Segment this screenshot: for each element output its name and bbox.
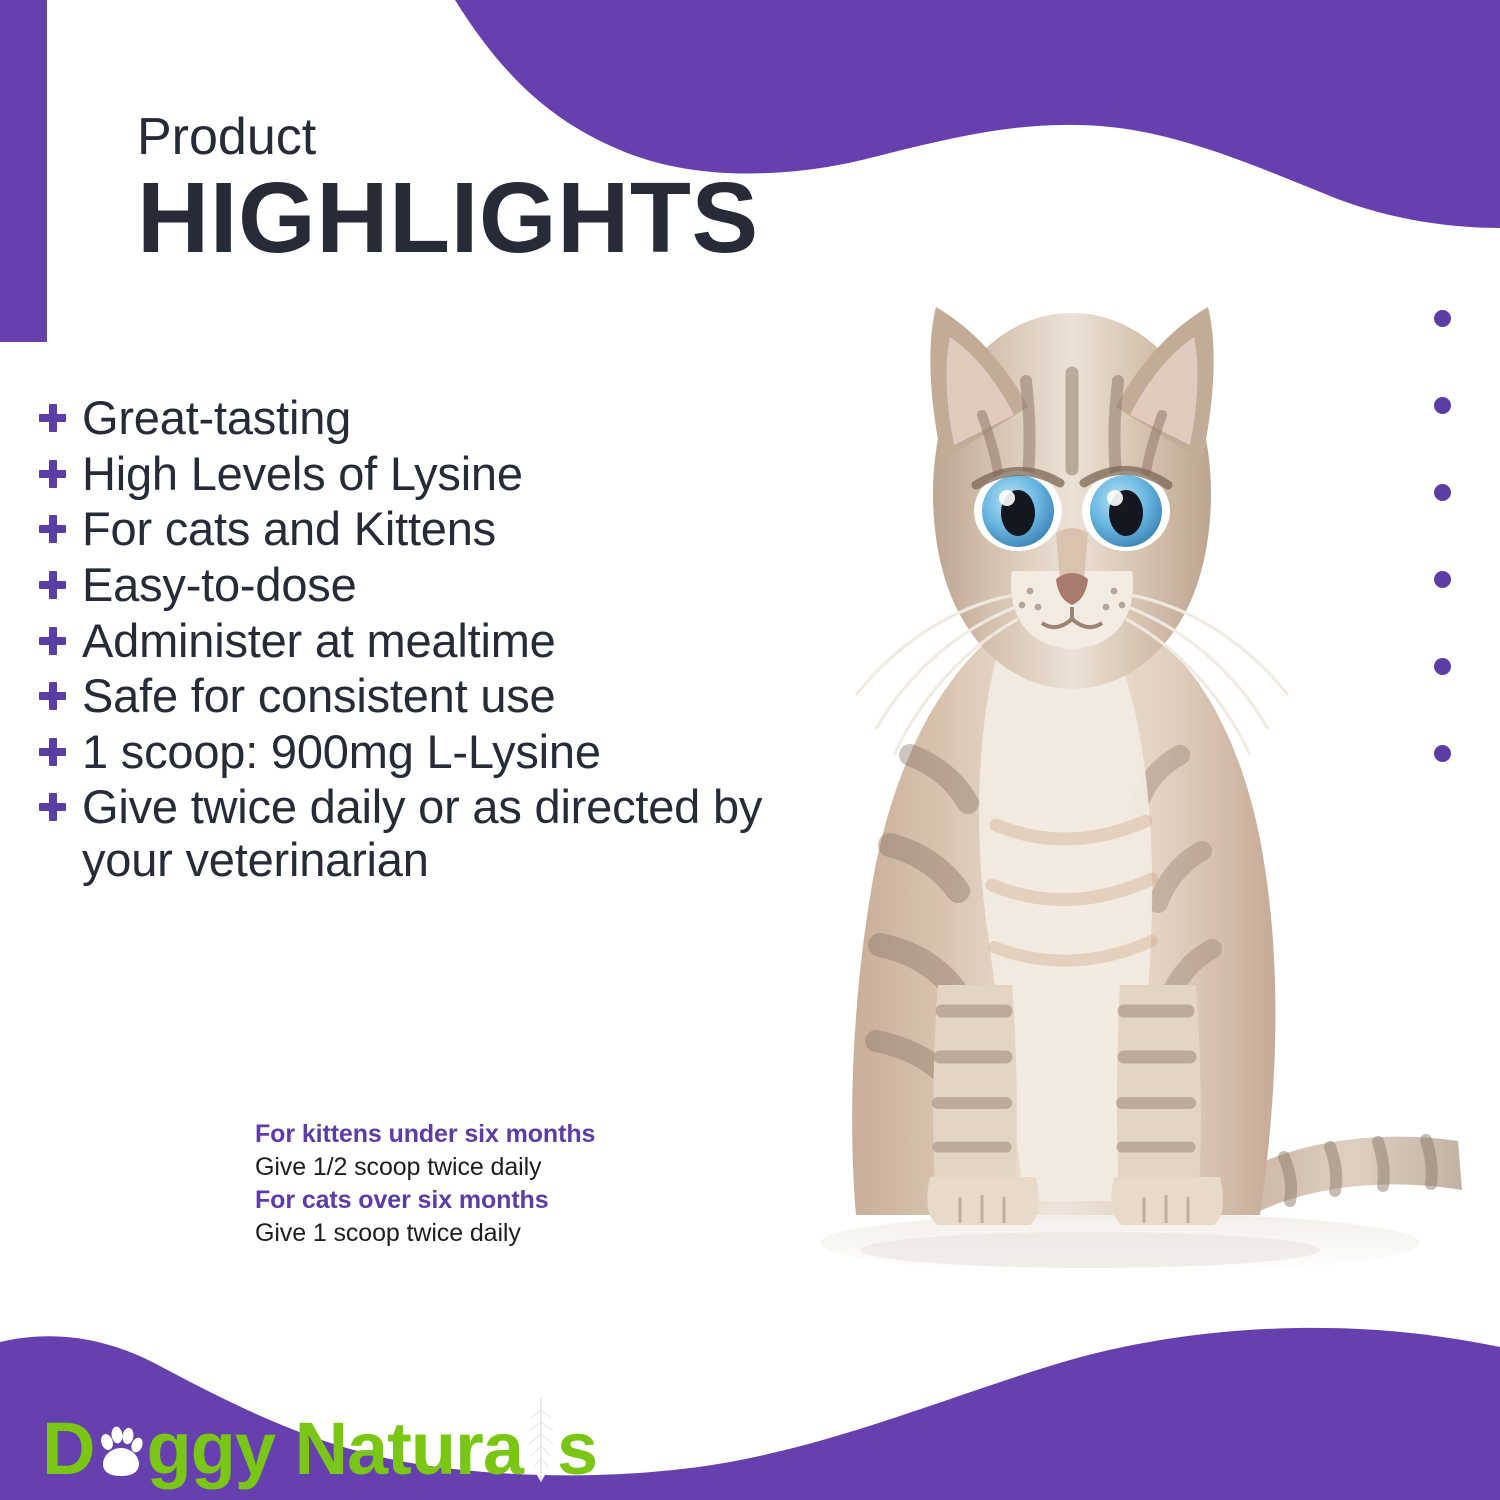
plus-icon — [36, 615, 70, 667]
decor-dot-4 — [1434, 571, 1451, 588]
list-item: For cats and Kittens — [36, 503, 836, 556]
page-header: Product HIGHLIGHTS — [137, 110, 759, 269]
list-item-label: Give twice daily or as directed by your … — [82, 781, 822, 886]
cat-illustration — [790, 285, 1470, 1300]
paw-print-icon — [98, 1426, 144, 1478]
list-item: High Levels of Lysine — [36, 448, 836, 501]
page-title: HIGHLIGHTS — [137, 167, 759, 269]
purple-left-bar-shape — [0, 0, 47, 342]
decor-dot-5 — [1434, 658, 1451, 675]
floor-shadow-soft — [860, 1232, 1320, 1268]
cat-photo — [790, 285, 1470, 1300]
feather-icon — [521, 1392, 561, 1486]
cat-eye-left — [974, 471, 1062, 551]
brand-letters-oggy: ggy — [146, 1412, 275, 1486]
dosage-cats-instruction: Give 1 scoop twice daily — [255, 1217, 595, 1250]
decor-dot-2 — [1434, 397, 1451, 414]
plus-icon — [36, 448, 70, 500]
list-item: Easy-to-dose — [36, 559, 836, 612]
decor-dot-3 — [1434, 484, 1451, 501]
dosage-kittens-heading: For kittens under six months — [255, 1118, 595, 1151]
decor-dot-6 — [1434, 745, 1451, 762]
brand-space — [275, 1412, 295, 1486]
list-item-label: 1 scoop: 900mg L-Lysine — [82, 726, 601, 779]
brand-logo: D ggy Natura — [42, 1412, 597, 1486]
cat-eye-right — [1082, 470, 1170, 551]
list-item-label: Administer at mealtime — [82, 615, 556, 668]
list-item-label: Great-tasting — [82, 392, 351, 445]
header-kicker: Product — [137, 110, 759, 165]
brand-letter-s: s — [557, 1412, 597, 1486]
decor-dot-1 — [1434, 310, 1451, 327]
plus-icon — [36, 781, 70, 833]
product-highlights-graphic: Product HIGHLIGHTS — [0, 0, 1500, 1500]
brand-letter-d: D — [42, 1412, 94, 1486]
dosage-cats-heading: For cats over six months — [255, 1184, 595, 1217]
plus-icon — [36, 670, 70, 722]
dosage-kittens-instruction: Give 1/2 scoop twice daily — [255, 1151, 595, 1184]
dosage-instructions: For kittens under six months Give 1/2 sc… — [255, 1118, 595, 1250]
brand-letters-natura: Natura — [295, 1412, 523, 1486]
list-item: Great-tasting — [36, 392, 836, 445]
list-item: Safe for consistent use — [36, 670, 836, 723]
list-item-label: For cats and Kittens — [82, 503, 496, 556]
plus-icon — [36, 392, 70, 444]
list-item-label: Easy-to-dose — [82, 559, 357, 612]
plus-icon — [36, 726, 70, 778]
list-item: 1 scoop: 900mg L-Lysine — [36, 726, 836, 779]
list-item: Administer at mealtime — [36, 615, 836, 668]
highlights-list: Great-tasting High Levels of Lysine For … — [36, 392, 836, 890]
list-item: Give twice daily or as directed by your … — [36, 781, 836, 886]
list-item-label: Safe for consistent use — [82, 670, 556, 723]
list-item-label: High Levels of Lysine — [82, 448, 523, 501]
plus-icon — [36, 559, 70, 611]
plus-icon — [36, 503, 70, 555]
